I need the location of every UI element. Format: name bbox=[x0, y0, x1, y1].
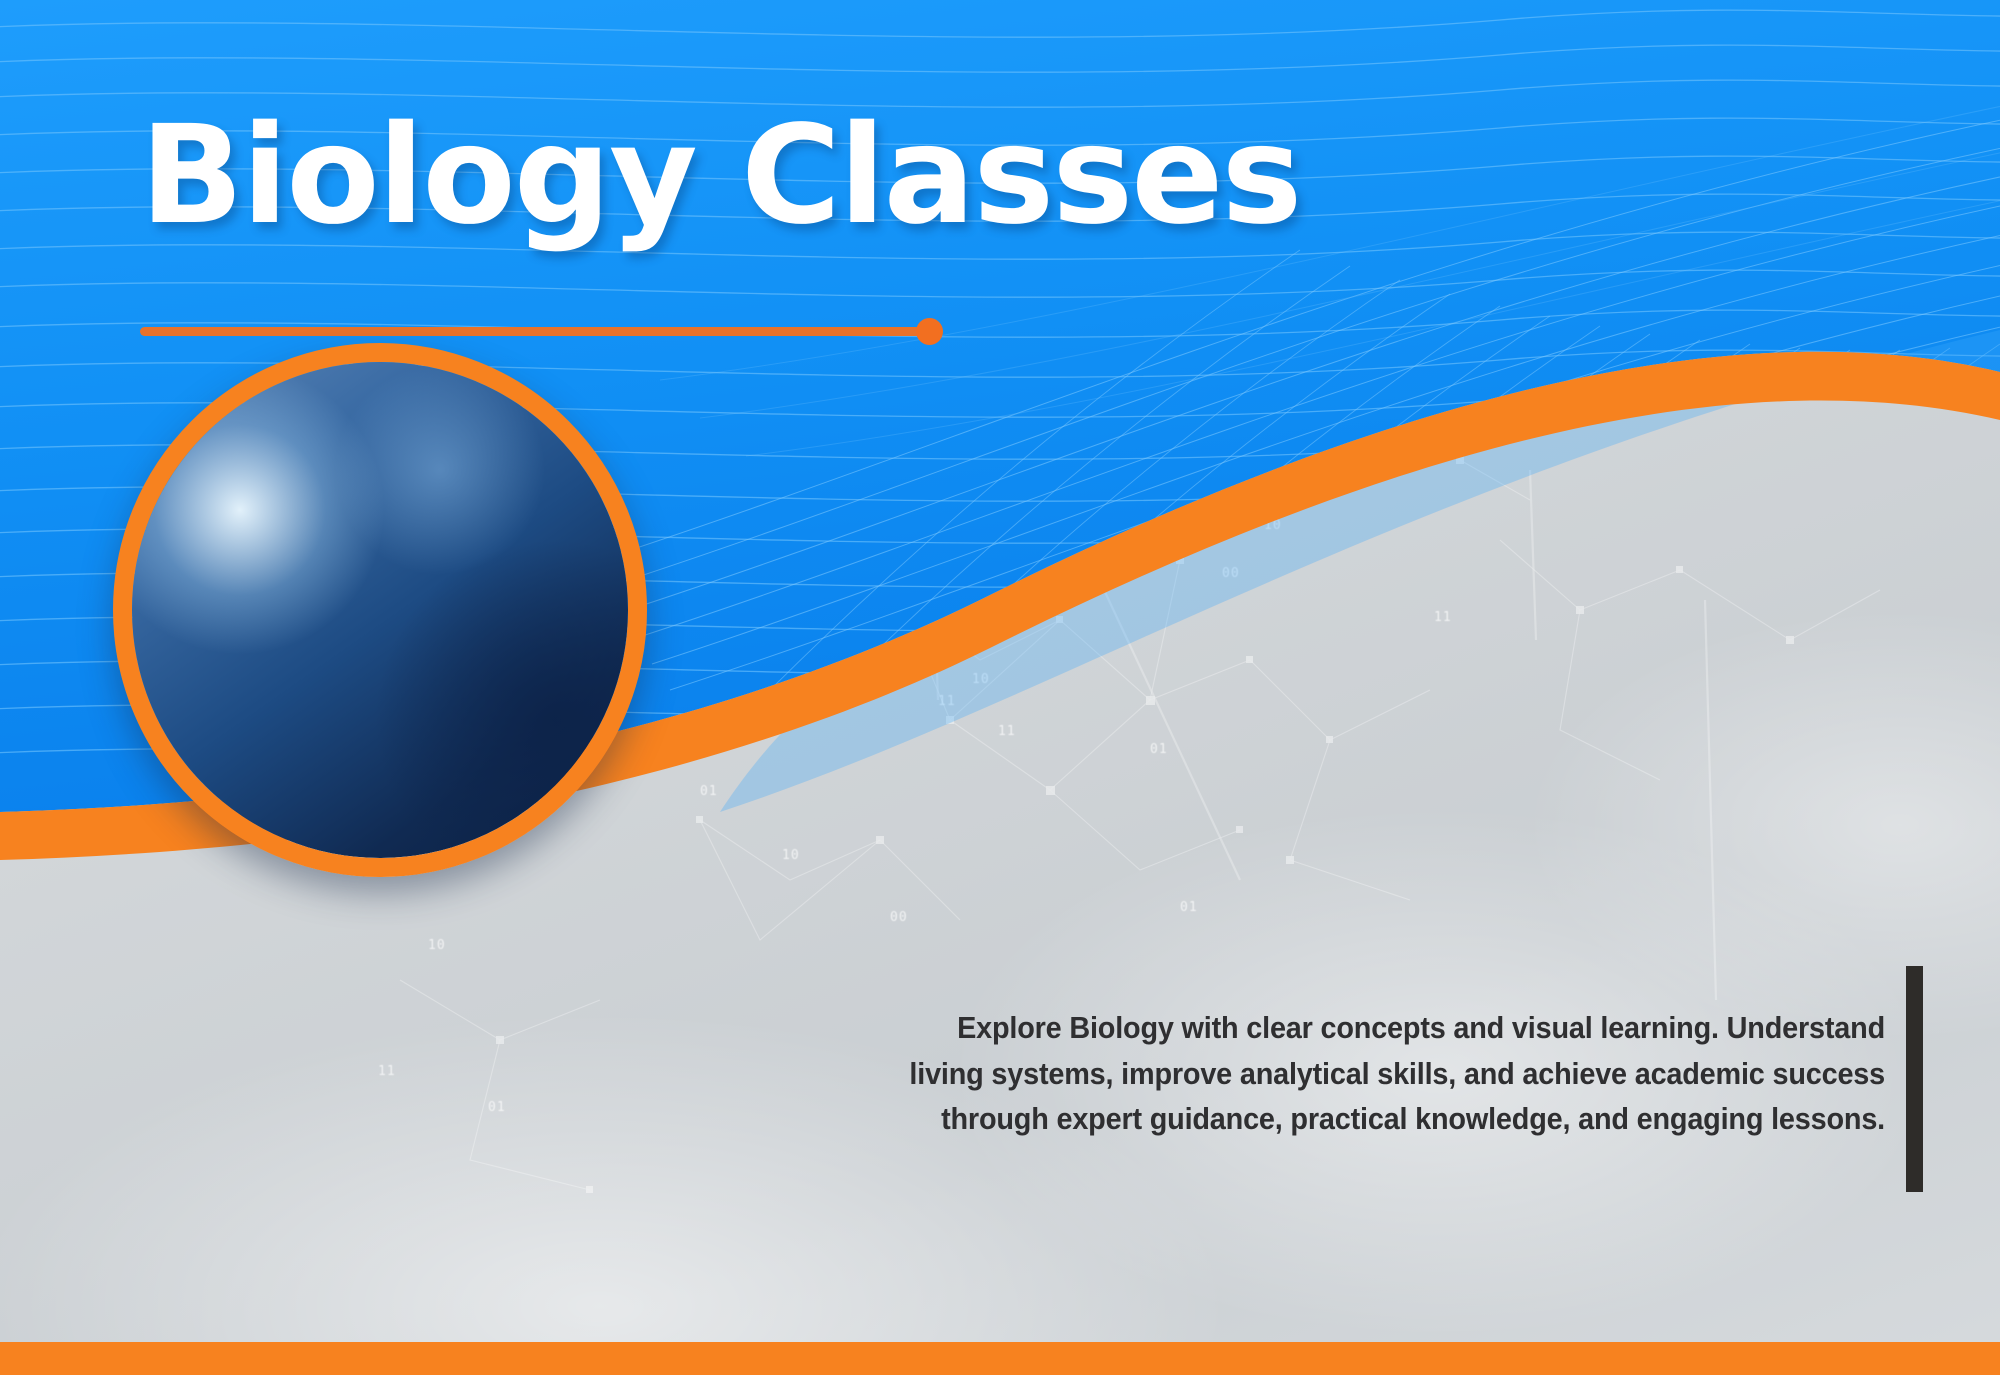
binary-label: 11 bbox=[378, 1064, 396, 1079]
binary-label: 01 bbox=[488, 1100, 506, 1115]
binary-label: 10 bbox=[428, 938, 446, 953]
dna-image-inner bbox=[132, 362, 628, 858]
page-title: Biology Classes bbox=[140, 108, 1300, 244]
bottom-accent-bar bbox=[0, 1342, 2000, 1375]
dna-image-backdrop bbox=[132, 362, 628, 858]
title-underline-rule bbox=[140, 327, 930, 336]
description-paragraph: Explore Biology with clear concepts and … bbox=[876, 1005, 1885, 1142]
binary-label: 00 bbox=[890, 910, 908, 925]
binary-label: 01 bbox=[1180, 900, 1198, 915]
dna-circle-image bbox=[113, 343, 647, 877]
poster-canvas: 01 00 10 11 11 01 01 10 11 00 01 10 11 0… bbox=[0, 0, 2000, 1375]
title-rule-end-dot bbox=[916, 318, 943, 345]
vertical-accent-bar bbox=[1906, 966, 1923, 1192]
